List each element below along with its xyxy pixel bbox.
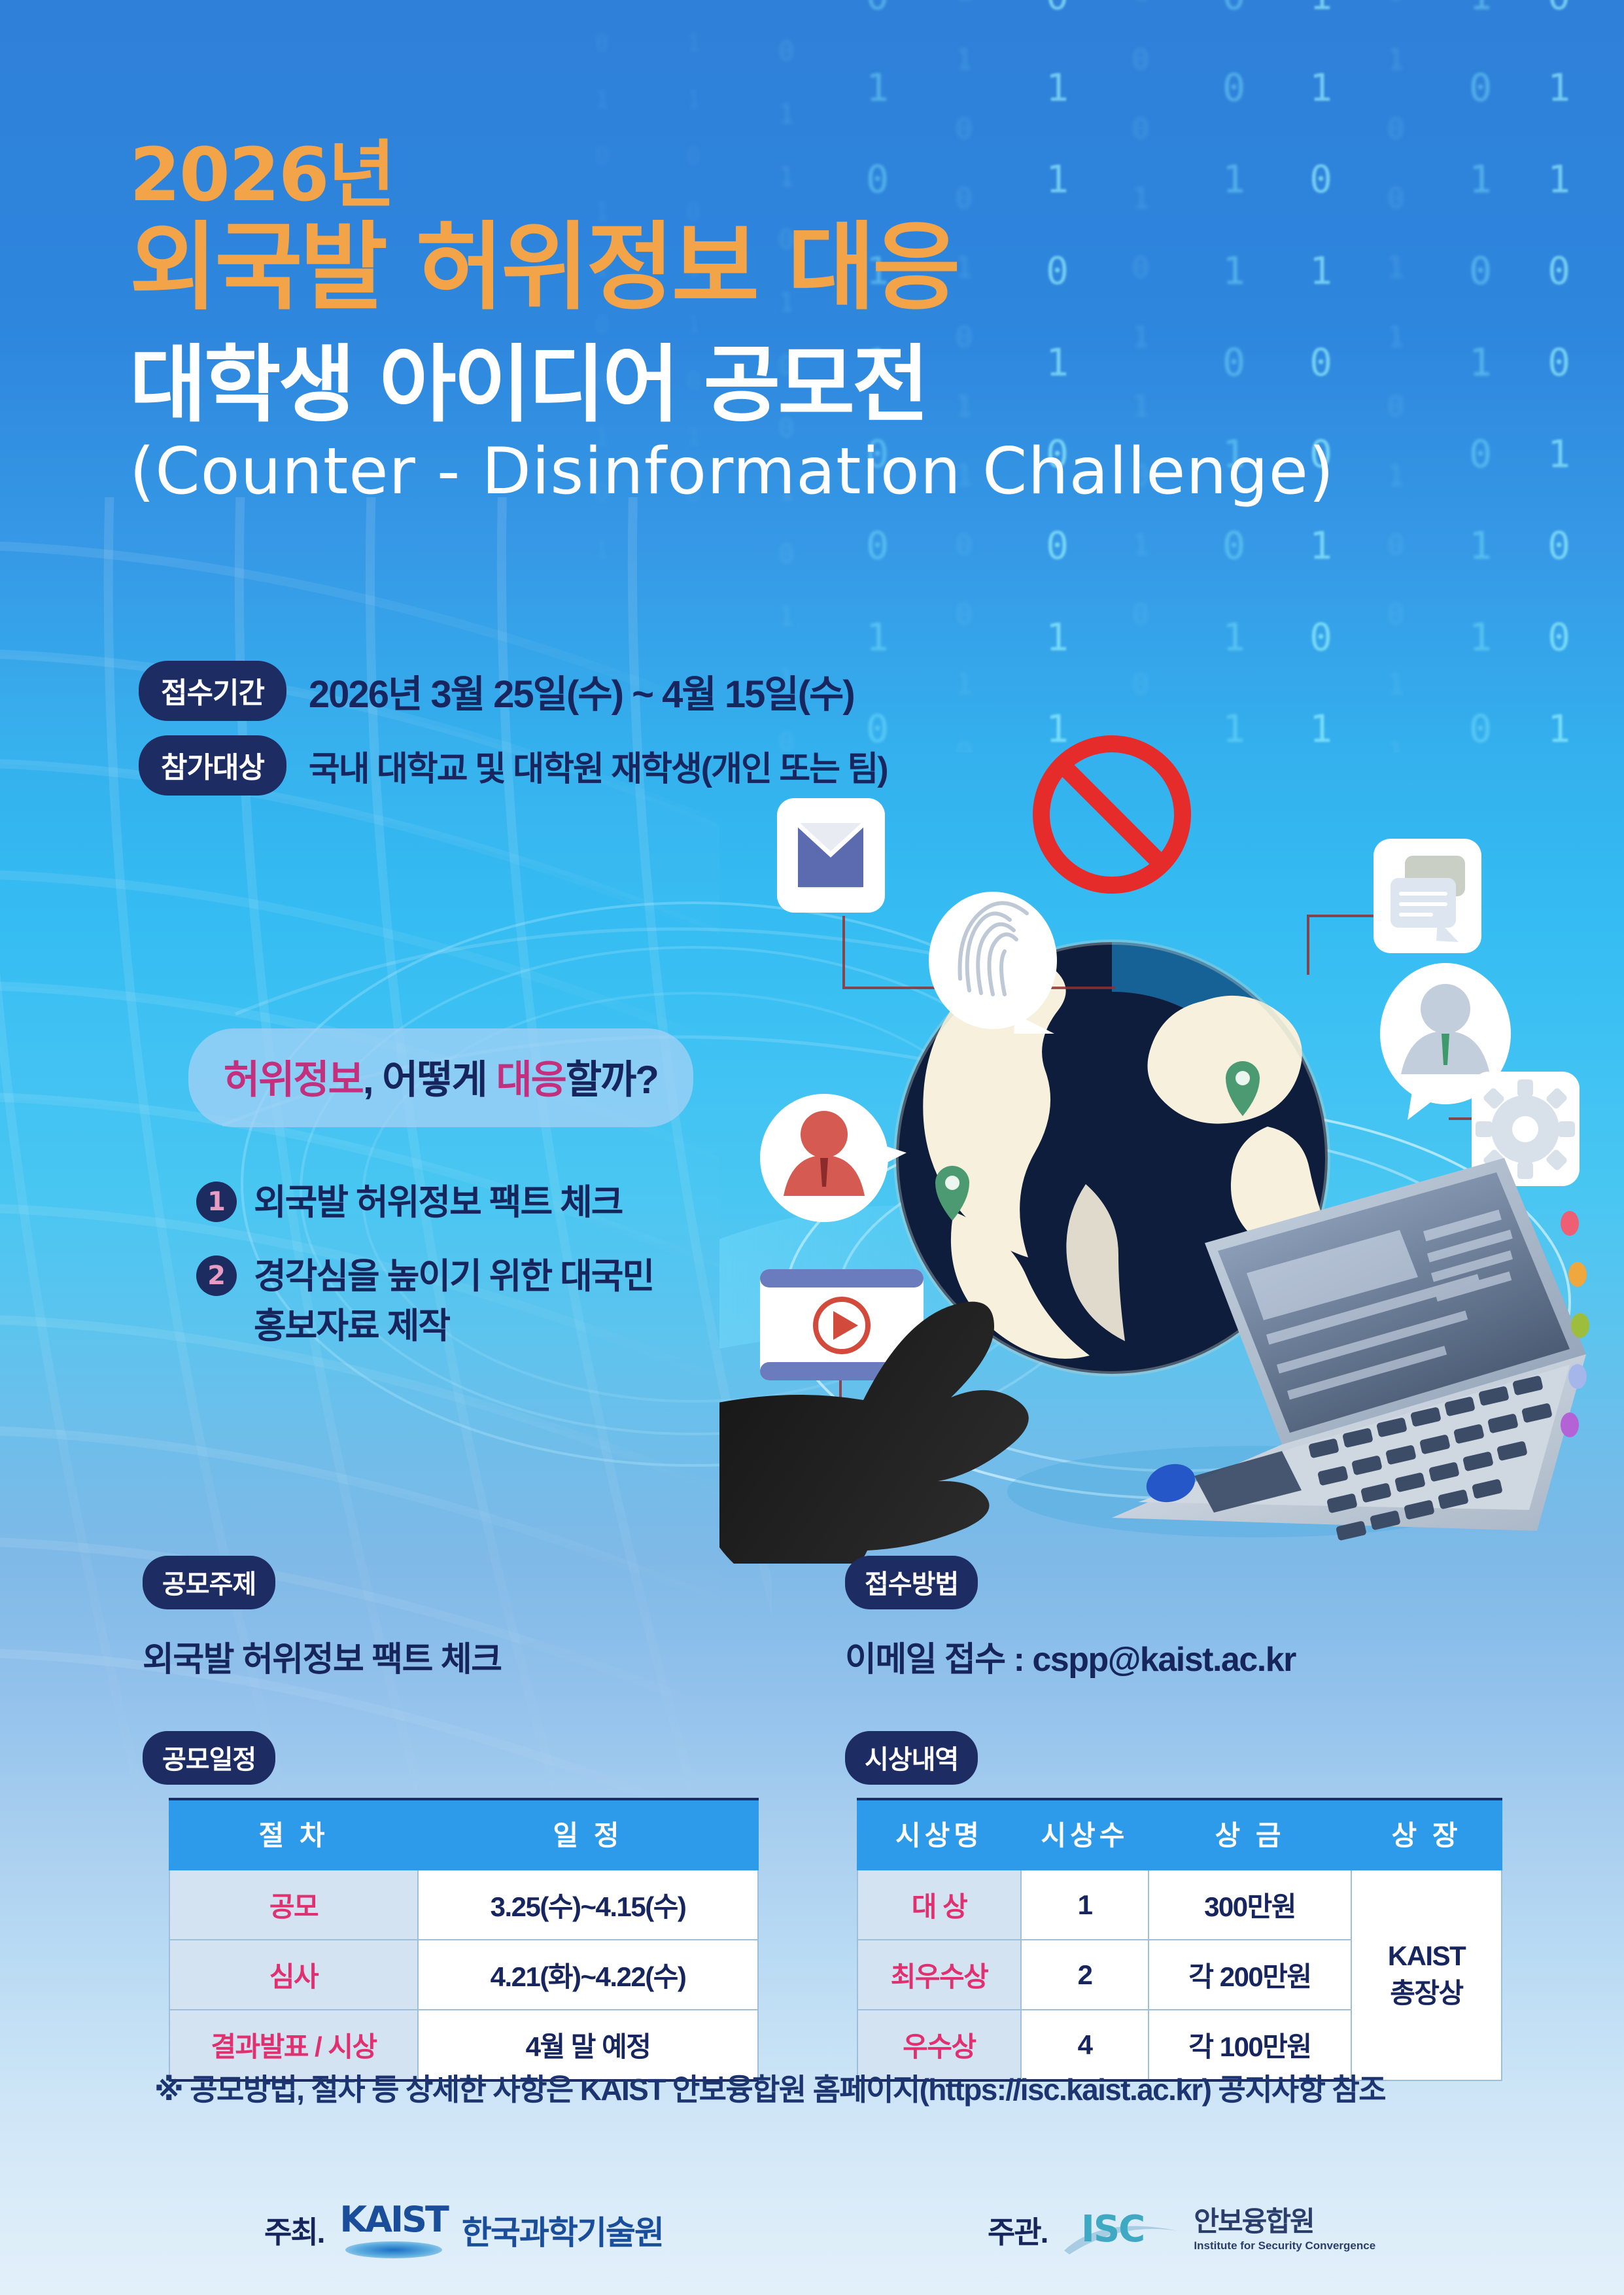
section-awards: 시상내역 [845,1731,978,1785]
topic-label: 공모주제 [143,1556,275,1609]
section-submission: 접수방법 이메일 접수 : cspp@kaist.ac.kr [845,1556,1296,1681]
schedule-col-step: 절 차 [169,1799,418,1870]
schedule-col-date: 일 정 [418,1799,758,1870]
eligibility-label: 참가대상 [139,735,286,796]
headline-block: 2026년 외국발 허위정보 대응 대학생 아이디어 공모전 (Counter … [130,139,1334,508]
period-value: 2026년 3월 25일(수) ~ 4월 15일(수) [309,663,854,718]
question-bubble: 허위정보, 어떻게 대응할까? [188,1028,693,1127]
isc-logo: ISC [1063,2202,1181,2258]
meta-row-period: 접수기간 2026년 3월 25일(수) ~ 4월 15일(수) [139,661,888,721]
organizer-name: 안보융합원 [1194,2208,1375,2235]
question-part-3: 대응 [496,1058,565,1102]
kaist-lens-icon [345,2241,442,2258]
organizer-group: 주관. ISC 안보융합원 Institute for Security Con… [988,2202,1375,2258]
host-name: 한국과학기술원 [462,2207,663,2254]
submission-label: 접수방법 [845,1556,978,1609]
person-red-icon [760,1094,907,1222]
organizer-name-block: 안보융합원 Institute for Security Convergence [1194,2208,1375,2252]
footer: 주최. KAIST 한국과학기술원 주관. ISC 안보융합원 Institut… [0,2196,1624,2274]
question-part-4: 할까? [566,1058,658,1102]
email-icon [777,798,885,913]
isc-swoosh-icon: ISC [1063,2202,1181,2258]
award-col-count: 시상수 [1021,1799,1149,1870]
approach-number-badge: 1 [196,1182,237,1222]
award-name: 대 상 [857,1870,1021,1940]
schedule-table: 절 차 일 정 공모 3.25(수)~4.15(수) 심사 4.21(화)~4.… [169,1798,759,2082]
period-label: 접수기간 [139,661,286,721]
schedule-date: 4.21(화)~4.22(수) [418,1940,758,2010]
table-row: 공모 3.25(수)~4.15(수) [169,1870,758,1940]
approach-text: 경각심을 높이기 위한 대국민 홍보자료 제작 [254,1252,653,1352]
award-col-cert: 상 장 [1351,1799,1502,1870]
section-topic: 공모주제 외국발 허위정보 팩트 체크 [143,1556,502,1681]
footnote: ※ 공모방법, 절차 등 상세한 사항은 KAIST 안보융합원 홈페이지(ht… [154,2066,1385,2109]
kaist-logo: KAIST [339,2202,447,2258]
submission-body[interactable]: 이메일 접수 : cspp@kaist.ac.kr [845,1632,1296,1681]
schedule-step: 심사 [169,1940,418,2010]
svg-text:ISC: ISC [1081,2208,1144,2251]
headline-year: 2026년 [130,139,1334,212]
award-col-prize: 상 금 [1149,1799,1351,1870]
question-part-2: , 어떻게 [363,1058,496,1102]
table-header-row: 절 차 일 정 [169,1799,758,1870]
topic-body: 외국발 허위정보 팩트 체크 [143,1632,502,1681]
award-count: 1 [1021,1870,1149,1940]
awards-table: 시상명 시상수 상 금 상 장 대 상 1 300만원 KAIST 총장상 최우… [857,1798,1502,2082]
award-name: 최우수상 [857,1940,1021,2010]
organizer-subtitle: Institute for Security Convergence [1194,2239,1375,2252]
schedule-label: 공모일정 [143,1731,275,1785]
section-schedule: 공모일정 [143,1731,275,1785]
table-row: 대 상 1 300만원 KAIST 총장상 [857,1870,1502,1940]
question-part-1: 허위정보 [224,1058,363,1102]
award-prize: 각 200만원 [1149,1940,1351,2010]
disinformation-illustration [719,726,1589,1564]
schedule-step: 공모 [169,1870,418,1940]
organizer-label: 주관. [988,2209,1047,2252]
awards-label: 시상내역 [845,1731,978,1785]
headline-sub: 대학생 아이디어 공모전 [130,341,1334,430]
approach-item: 2 경각심을 높이기 위한 대국민 홍보자료 제작 [196,1252,693,1352]
approach-item: 1 외국발 허위정보 팩트 체크 [196,1178,693,1228]
award-col-name: 시상명 [857,1799,1021,1870]
approach-text: 외국발 허위정보 팩트 체크 [254,1178,623,1228]
host-label: 주최. [264,2209,324,2252]
headline-main: 외국발 허위정보 대응 [130,217,1334,319]
approach-list: 1 외국발 허위정보 팩트 체크 2 경각심을 높이기 위한 대국민 홍보자료 … [196,1178,693,1375]
table-header-row: 시상명 시상수 상 금 상 장 [857,1799,1502,1870]
host-group: 주최. KAIST 한국과학기술원 [264,2202,663,2258]
headline-english: (Counter - Disinformation Challenge) [130,437,1334,508]
kaist-wordmark: KAIST [339,2202,447,2237]
award-count: 2 [1021,1940,1149,2010]
prohibition-icon [1041,744,1183,885]
poster-root: 1 0 1 1 0 1 0 0 1 0 1 1 0 1 0 1 1 0 0 1 … [0,0,1624,2295]
table-row: 심사 4.21(화)~4.22(수) [169,1940,758,2010]
award-certificate: KAIST 총장상 [1351,1870,1502,2080]
schedule-date: 3.25(수)~4.15(수) [418,1870,758,1940]
chat-bubbles-icon [1373,839,1481,953]
approach-number-badge: 2 [196,1255,237,1296]
award-prize: 300만원 [1149,1870,1351,1940]
